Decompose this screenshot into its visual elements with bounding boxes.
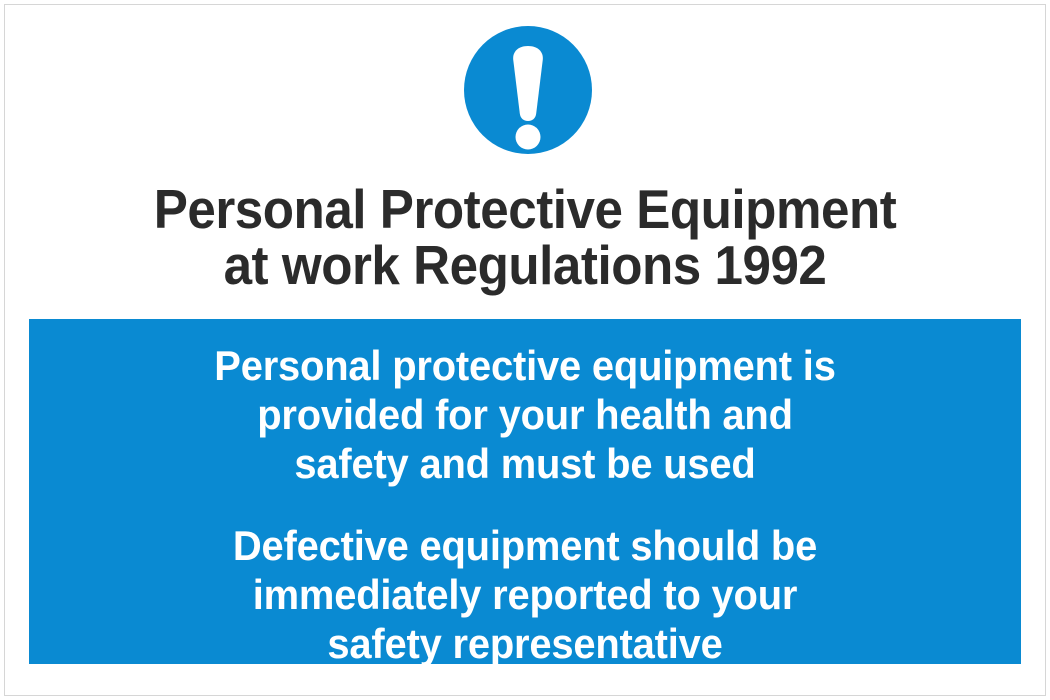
- paragraph-1-line-3: safety and must be used: [54, 439, 996, 488]
- paragraph-2-line-3: safety representative: [54, 619, 996, 668]
- paragraph-1-line-2: provided for your health and: [54, 390, 996, 439]
- instruction-paragraph-1: Personal protective equipment is provide…: [54, 341, 996, 488]
- safety-sign: Personal Protective Equipment at work Re…: [0, 0, 1050, 700]
- paragraph-2-line-2: immediately reported to your: [54, 570, 996, 619]
- paragraph-2-line-1: Defective equipment should be: [54, 521, 996, 570]
- heading-line-1: Personal Protective Equipment: [41, 181, 1008, 237]
- sign-heading: Personal Protective Equipment at work Re…: [41, 181, 1008, 293]
- instruction-paragraph-2: Defective equipment should be immediatel…: [54, 521, 996, 668]
- exclamation-mark-mandatory-icon: [463, 25, 593, 155]
- instruction-panel: Personal protective equipment is provide…: [29, 319, 1021, 664]
- paragraph-1-line-1: Personal protective equipment is: [54, 341, 996, 390]
- heading-line-2: at work Regulations 1992: [41, 237, 1008, 293]
- sign-frame: Personal Protective Equipment at work Re…: [4, 4, 1046, 696]
- icon-area: [5, 5, 1045, 175]
